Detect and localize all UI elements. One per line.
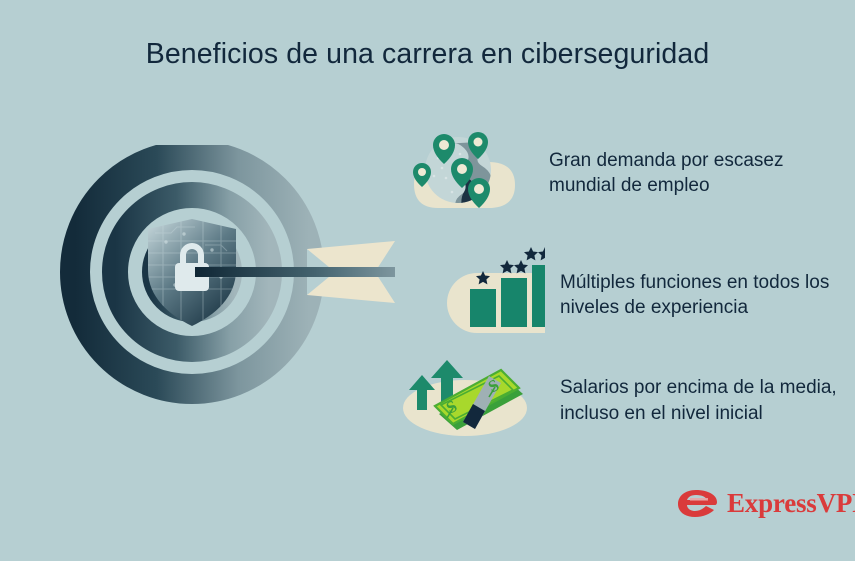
arrow-shaft — [195, 267, 395, 277]
bar-2 — [501, 278, 527, 327]
expressvpn-wordmark: ExpressVPN — [727, 488, 855, 519]
benefit-text-salary: Salarios por encima de la media, incluso… — [560, 375, 855, 426]
target-with-shield-and-arrow-illustration — [45, 145, 395, 445]
money-stack-with-up-arrows-icon: S S — [395, 348, 535, 453]
benefit-row-demand: Gran demanda por escasez mundial de empl… — [400, 118, 849, 228]
star — [514, 260, 528, 273]
star — [500, 260, 514, 273]
benefit-text-demand: Gran demanda por escasez mundial de empl… — [549, 148, 849, 199]
bar-1 — [470, 289, 496, 327]
benefit-row-salary: S S Salarios por encima de la media, inc… — [395, 348, 855, 453]
benefit-row-roles: Múltiples funciones en todos los niveles… — [400, 240, 855, 350]
globe-with-location-pins-icon — [400, 118, 525, 228]
star — [524, 247, 538, 260]
expressvpn-logo[interactable]: ExpressVPN — [676, 487, 855, 519]
star — [538, 247, 545, 260]
bar-chart-with-stars-icon — [400, 240, 545, 350]
expressvpn-e-mark-icon — [676, 487, 718, 519]
benefit-text-roles: Múltiples funciones en todos los niveles… — [560, 270, 855, 321]
infographic-canvas: Beneficios de una carrera en ciberseguri… — [0, 0, 855, 561]
page-title: Beneficios de una carrera en ciberseguri… — [0, 38, 855, 71]
bar-3 — [532, 265, 545, 327]
